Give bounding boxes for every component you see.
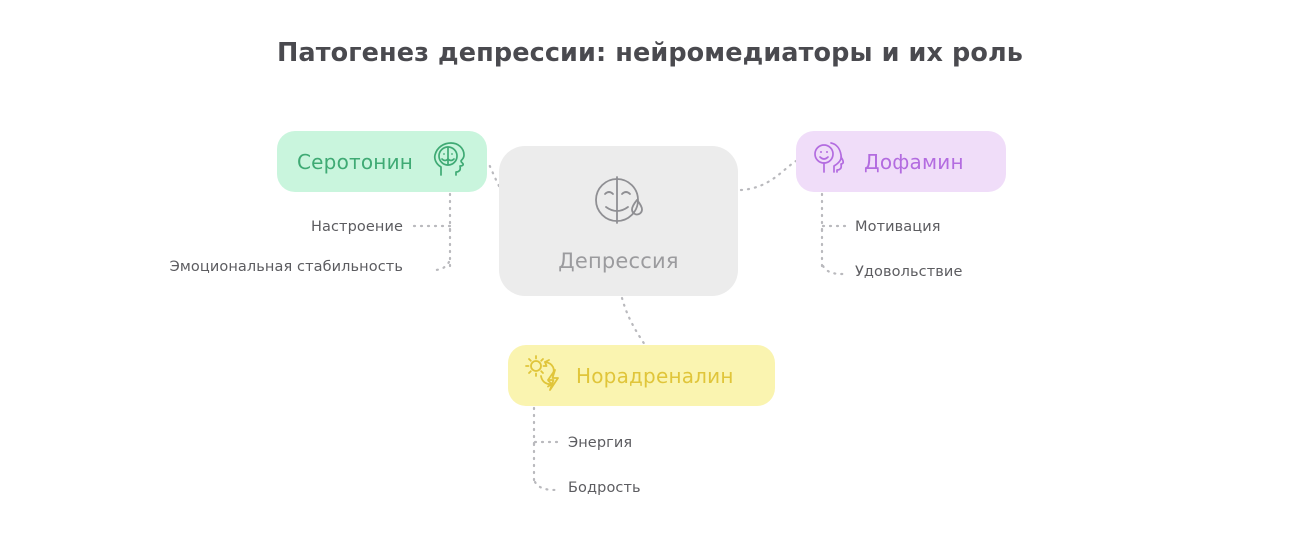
sub-label-mood: Настроение	[311, 219, 403, 235]
connector-center-noradrenaline	[622, 298, 645, 345]
diagram-canvas: Патогенез депрессии: нейромедиаторы и их…	[0, 0, 1300, 546]
connector-serotonin-branch-stability	[432, 262, 449, 270]
connector-noradrenaline-branch-vigor	[535, 482, 560, 490]
sun-lightning-energy-icon	[524, 354, 564, 398]
node-noradrenaline-label: Норадреналин	[576, 364, 734, 388]
node-depression-label: Депрессия	[558, 249, 678, 273]
split-face-sad-icon	[588, 169, 650, 235]
sub-label-energy: Энергия	[568, 435, 632, 451]
node-serotonin[interactable]: Серотонин	[277, 131, 487, 192]
node-dopamine[interactable]: Дофамин	[796, 131, 1006, 192]
node-dopamine-label: Дофамин	[864, 150, 964, 174]
node-serotonin-label: Серотонин	[297, 150, 413, 174]
sub-label-vigor: Бодрость	[568, 480, 641, 496]
head-smiley-icon	[812, 141, 850, 183]
page-title: Патогенез депрессии: нейромедиаторы и их…	[0, 38, 1300, 68]
head-face-split-icon	[431, 141, 469, 183]
connector-center-serotonin	[487, 161, 499, 186]
connector-center-dopamine	[741, 161, 796, 190]
sub-label-motivation: Мотивация	[855, 219, 941, 235]
connector-dopamine-branch-pleasure	[823, 266, 846, 274]
node-depression[interactable]: Депрессия	[499, 146, 738, 296]
node-noradrenaline[interactable]: Норадреналин	[508, 345, 775, 406]
sub-label-emotional-stability: Эмоциональная стабильность	[170, 259, 403, 275]
sub-label-pleasure: Удовольствие	[855, 264, 962, 280]
